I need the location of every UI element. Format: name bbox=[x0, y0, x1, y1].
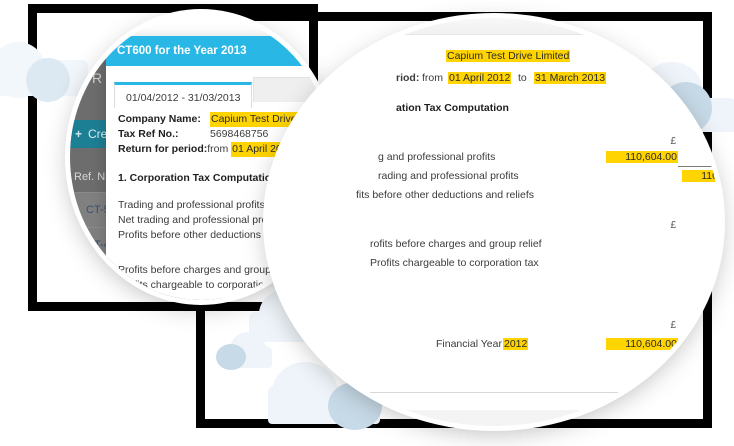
row-profits-before-deductions: fits before other deductions and reliefs… bbox=[268, 189, 720, 208]
value-trading-profits: 110,604.00 bbox=[606, 151, 678, 163]
currency-symbol: £ bbox=[606, 220, 676, 231]
currency-symbol: £ bbox=[606, 136, 676, 147]
label-profits-chargeable: Profits chargeable to corporation tax bbox=[370, 257, 539, 269]
computation-body: Capium Test Drive Limited riod: from 01 … bbox=[268, 50, 720, 426]
tab-period[interactable]: 01/04/2012 - 31/03/2013 bbox=[114, 82, 252, 108]
create-return-label: Cre bbox=[88, 127, 107, 141]
section-heading: ation Tax Computation bbox=[396, 102, 509, 114]
document-divider bbox=[270, 392, 720, 393]
return-period-from-word: from bbox=[207, 142, 228, 157]
label-return-period: riod: bbox=[396, 72, 419, 84]
row-currency-headers-2: £ £ bbox=[268, 208, 720, 238]
label-net-trading-profits: rading and professional profits bbox=[378, 170, 519, 182]
row-return-period: riod: from 01 April 2012 to 31 March 201… bbox=[268, 72, 720, 102]
row-trading-profits: g and professional profits 110,604.00 bbox=[268, 151, 720, 170]
value-company-name: Capium Test Drive Limited bbox=[446, 50, 570, 62]
label-return-period: Return for period: bbox=[118, 142, 207, 157]
label-profits-before-charges: rofits before charges and group relief bbox=[370, 238, 542, 250]
period-to: 31 March 2013 bbox=[534, 72, 606, 84]
period-from: 01 April 2012 bbox=[448, 72, 511, 84]
row-financial-year-total: 22,120.80 bbox=[268, 357, 720, 376]
row-profits-chargeable: Profits chargeable to corporation tax 11… bbox=[268, 257, 720, 276]
row-currency-headers-3: £ % £ bbox=[268, 276, 720, 338]
value-tax-ref-no: 5698468756 bbox=[210, 127, 268, 142]
document-toolbar bbox=[268, 18, 720, 35]
value-fy-amount: 110,604.00 bbox=[606, 338, 678, 350]
label-tax-ref-no: Tax Ref No.: bbox=[118, 127, 210, 142]
label-financial-year: Financial Year : bbox=[436, 338, 508, 350]
value-fy-rate: 20.00 bbox=[682, 338, 720, 350]
value-financial-year: 2012 bbox=[503, 338, 528, 350]
row-net-trading-profits: rading and professional profits 110,604.… bbox=[268, 170, 720, 189]
period-to-word: to bbox=[518, 72, 527, 84]
document-footer-panel bbox=[268, 410, 720, 426]
currency-symbol: £ bbox=[682, 136, 720, 147]
label-profits-before-deductions: fits before other deductions and reliefs bbox=[356, 189, 534, 201]
row-company-name: Capium Test Drive Limited bbox=[268, 50, 720, 72]
label-trading-profits: g and professional profits bbox=[378, 151, 495, 163]
percent-symbol: % bbox=[682, 320, 720, 331]
illustration-stage: 600 R +Cre Ref. N CT-5 CT-4 CT-3 CT600 f… bbox=[0, 0, 734, 446]
row-currency-headers-1: £ £ bbox=[268, 136, 720, 151]
magnifier-right: Capium Test Drive Limited riod: from 01 … bbox=[268, 18, 720, 426]
period-from-word: from bbox=[422, 72, 443, 84]
value-net-trading-profits: 110,604.00 bbox=[682, 170, 720, 182]
background-app-title: 600 R bbox=[70, 70, 102, 86]
plus-icon: + bbox=[75, 127, 82, 141]
label-company-name: Company Name: bbox=[118, 112, 210, 127]
ct600-computation-document: Capium Test Drive Limited riod: from 01 … bbox=[268, 18, 720, 426]
row-financial-year: Financial Year : 2012 110,604.00 20.00 2… bbox=[268, 338, 720, 357]
row-section-heading: ation Tax Computation bbox=[268, 102, 720, 136]
currency-symbol: £ bbox=[606, 320, 676, 331]
row-profits-before-charges: rofits before charges and group relief 1… bbox=[268, 238, 720, 257]
